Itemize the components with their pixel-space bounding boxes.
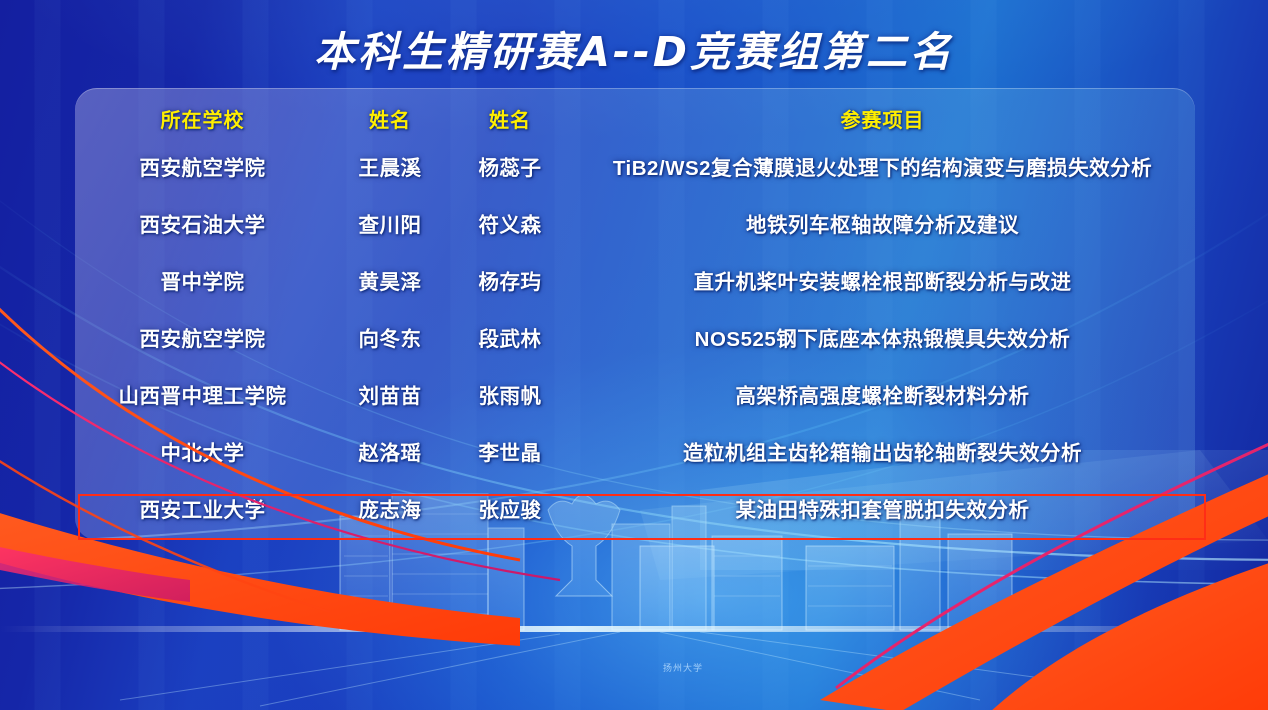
cell-project: 造粒机组主齿轮箱输出齿轮轴断裂失效分析	[570, 425, 1195, 482]
cell-school: 西安航空学院	[75, 140, 330, 197]
page-title: 本科生精研赛A--D竞赛组第二名	[0, 18, 1268, 78]
cell-project: 直升机桨叶安装螺栓根部断裂分析与改进	[570, 254, 1195, 311]
presentation-slide: 扬州大学	[0, 0, 1268, 710]
cell-name-1: 王晨溪	[330, 140, 450, 197]
cell-project: 高架桥高强度螺栓断裂材料分析	[570, 368, 1195, 425]
cell-name-2: 段武林	[450, 311, 570, 368]
cell-school: 西安石油大学	[75, 197, 330, 254]
cell-name-1: 向冬东	[330, 311, 450, 368]
table-header-row: 所在学校 姓名 姓名 参赛项目	[75, 96, 1195, 140]
cell-name-1: 赵洛瑶	[330, 425, 450, 482]
cell-project: 某油田特殊扣套管脱扣失效分析	[570, 482, 1195, 539]
cell-name-2: 杨存玙	[450, 254, 570, 311]
table-row-highlighted: 西安工业大学 庞志海 张应骏 某油田特殊扣套管脱扣失效分析	[75, 482, 1195, 539]
table-row: 中北大学 赵洛瑶 李世晶 造粒机组主齿轮箱输出齿轮轴断裂失效分析	[75, 425, 1195, 482]
table-row: 西安石油大学 查川阳 符义森 地铁列车枢轴故障分析及建议	[75, 197, 1195, 254]
table-row: 山西晋中理工学院 刘苗苗 张雨帆 高架桥高强度螺栓断裂材料分析	[75, 368, 1195, 425]
cell-school: 西安航空学院	[75, 311, 330, 368]
results-table: 所在学校 姓名 姓名 参赛项目 西安航空学院 王晨溪 杨蕊子 TiB2/WS2复…	[75, 96, 1195, 539]
column-header-name-2: 姓名	[450, 96, 570, 140]
cell-name-2: 杨蕊子	[450, 140, 570, 197]
campus-building-label: 扬州大学	[654, 661, 712, 674]
cell-school: 西安工业大学	[75, 482, 330, 539]
cell-name-2: 张应骏	[450, 482, 570, 539]
table-row: 西安航空学院 向冬东 段武林 NOS525钢下底座本体热锻模具失效分析	[75, 311, 1195, 368]
cell-name-2: 李世晶	[450, 425, 570, 482]
column-header-project: 参赛项目	[570, 96, 1195, 140]
cell-name-2: 张雨帆	[450, 368, 570, 425]
cell-project: NOS525钢下底座本体热锻模具失效分析	[570, 311, 1195, 368]
cell-name-1: 庞志海	[330, 482, 450, 539]
cell-school: 晋中学院	[75, 254, 330, 311]
cell-name-1: 黄昊泽	[330, 254, 450, 311]
table-row: 晋中学院 黄昊泽 杨存玙 直升机桨叶安装螺栓根部断裂分析与改进	[75, 254, 1195, 311]
column-header-school: 所在学校	[75, 96, 330, 140]
cell-school: 中北大学	[75, 425, 330, 482]
cell-name-1: 查川阳	[330, 197, 450, 254]
cell-project: TiB2/WS2复合薄膜退火处理下的结构演变与磨损失效分析	[570, 140, 1195, 197]
table-row: 西安航空学院 王晨溪 杨蕊子 TiB2/WS2复合薄膜退火处理下的结构演变与磨损…	[75, 140, 1195, 197]
column-header-name-1: 姓名	[330, 96, 450, 140]
cell-name-2: 符义森	[450, 197, 570, 254]
cell-school: 山西晋中理工学院	[75, 368, 330, 425]
cell-project: 地铁列车枢轴故障分析及建议	[570, 197, 1195, 254]
cell-name-1: 刘苗苗	[330, 368, 450, 425]
